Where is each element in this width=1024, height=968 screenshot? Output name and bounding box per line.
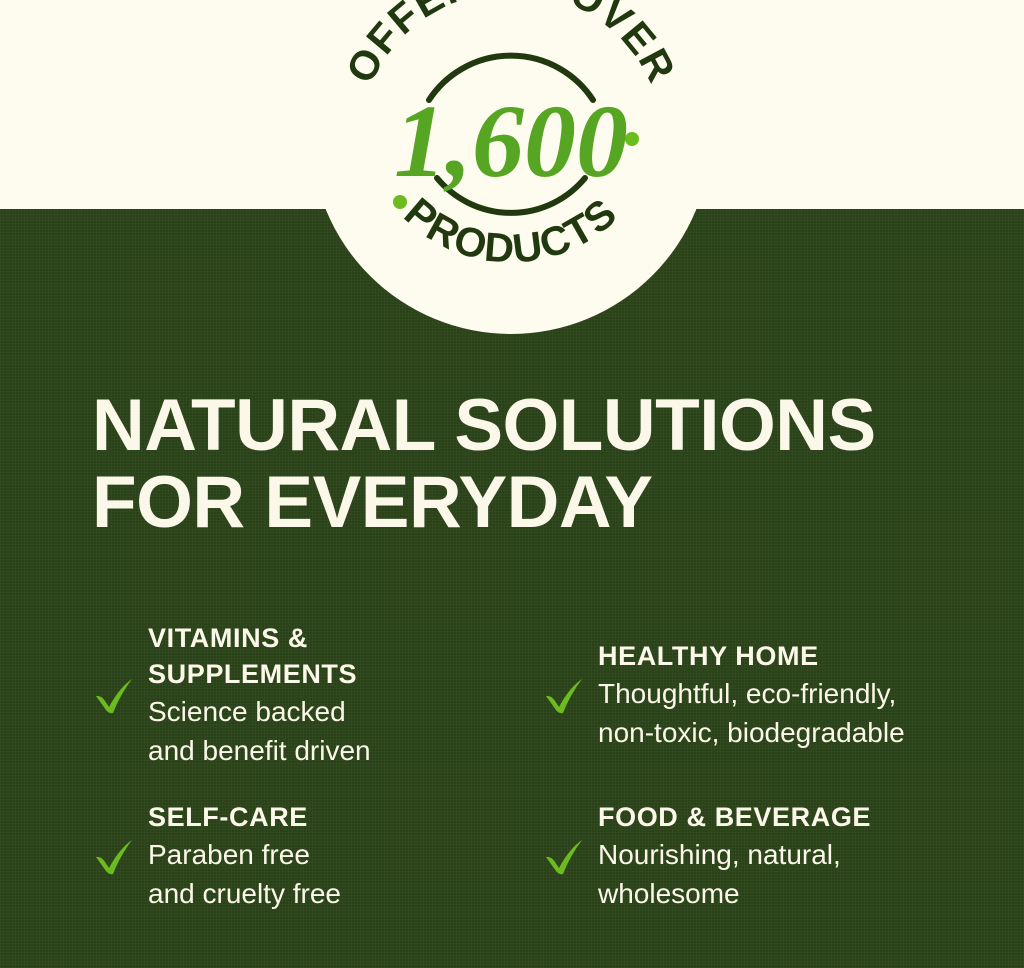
badge-bottom-arc-text: PRODUCTS bbox=[396, 189, 626, 272]
feature-text: HEALTHY HOME Thoughtful, eco-friendly, n… bbox=[598, 639, 982, 752]
feature-item-self-care: SELF-CARE Paraben free and cruelty free bbox=[92, 800, 542, 913]
feature-item-vitamins-supplements: VITAMINS & SUPPLEMENTS Science backed an… bbox=[92, 592, 542, 800]
feature-text: FOOD & BEVERAGE Nourishing, natural, who… bbox=[598, 800, 982, 913]
feature-title: VITAMINS & SUPPLEMENTS bbox=[148, 621, 542, 693]
badge-top-arc-text: OFFERING OVER bbox=[337, 0, 685, 90]
feature-text: SELF-CARE Paraben free and cruelty free bbox=[148, 800, 542, 913]
check-icon bbox=[92, 674, 136, 718]
feature-item-healthy-home: HEALTHY HOME Thoughtful, eco-friendly, n… bbox=[542, 592, 982, 800]
offering-over-products-badge: OFFERING OVER PRODUCTS 1,600 bbox=[311, 0, 711, 334]
page-title: NATURAL SOLUTIONS FOR EVERYDAY bbox=[92, 388, 962, 541]
check-icon bbox=[542, 674, 586, 718]
feature-description: Science backed and benefit driven bbox=[148, 693, 542, 770]
feature-list: VITAMINS & SUPPLEMENTS Science backed an… bbox=[92, 592, 982, 913]
check-icon bbox=[92, 835, 136, 879]
feature-title: HEALTHY HOME bbox=[598, 639, 982, 675]
badge-product-count: 1,600 bbox=[394, 84, 628, 199]
feature-item-food-beverage: FOOD & BEVERAGE Nourishing, natural, who… bbox=[542, 800, 982, 913]
feature-title: SELF-CARE bbox=[148, 800, 542, 836]
feature-description: Paraben free and cruelty free bbox=[148, 836, 542, 913]
promo-banner: OFFERING OVER PRODUCTS 1,600 NATURAL SOL… bbox=[0, 0, 1024, 968]
feature-description: Nourishing, natural, wholesome bbox=[598, 836, 982, 913]
feature-description: Thoughtful, eco-friendly, non-toxic, bio… bbox=[598, 675, 982, 752]
feature-text: VITAMINS & SUPPLEMENTS Science backed an… bbox=[148, 621, 542, 770]
check-icon bbox=[542, 835, 586, 879]
feature-title: FOOD & BEVERAGE bbox=[598, 800, 982, 836]
